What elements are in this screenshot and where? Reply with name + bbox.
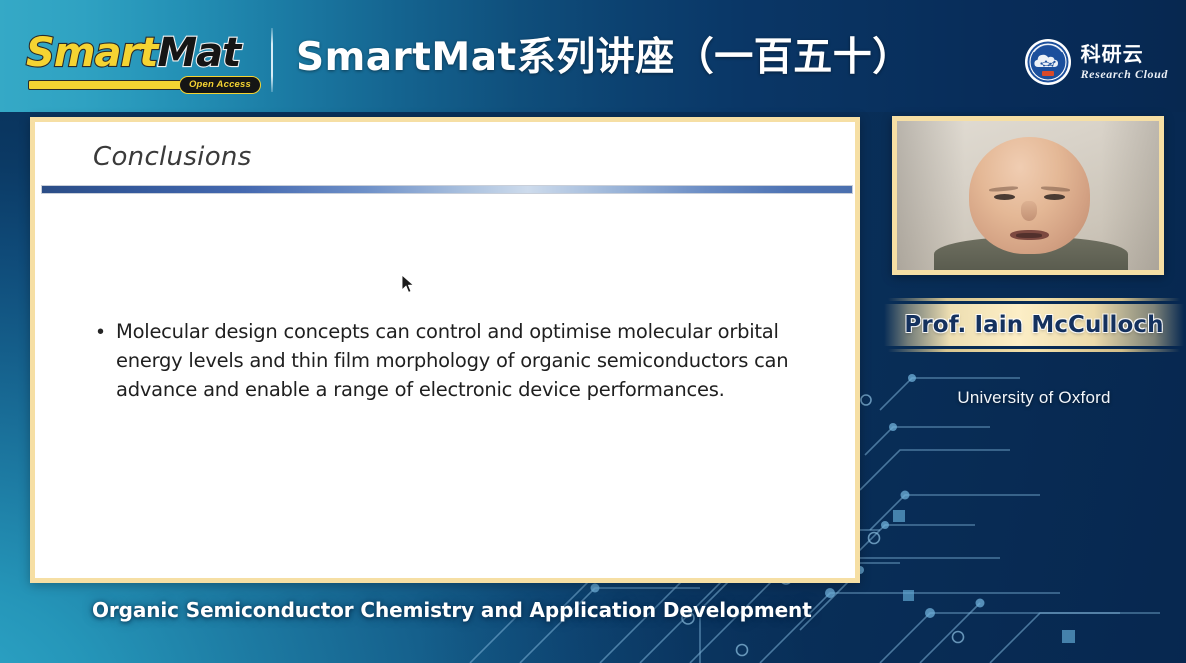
mouse-pointer-icon <box>401 274 415 294</box>
research-cloud-logo: 科研云 Research Cloud <box>1024 36 1168 88</box>
research-cloud-name-cn: 科研云 <box>1081 44 1168 64</box>
smartmat-logo-mat-text: Mat <box>157 30 240 76</box>
nameplate-rule-top <box>888 298 1180 301</box>
open-access-badge: Open Access <box>179 76 261 94</box>
page-title: SmartMat系列讲座（一百五十） <box>296 36 912 81</box>
smartmat-logo-wordmark: SmartMat <box>26 33 240 73</box>
speaker-nose <box>1021 201 1037 220</box>
slide-title: Conclusions <box>93 142 252 172</box>
speaker-eye-right <box>1044 194 1065 200</box>
speaker-mouth-inner <box>1016 233 1042 238</box>
lecture-topic-title: Organic Semiconductor Chemistry and Appl… <box>92 598 812 622</box>
header-divider <box>271 28 273 92</box>
presentation-stage: SmartMat Open Access SmartMat系列讲座（一百五十） <box>0 0 1186 663</box>
slide-title-rule <box>41 185 853 194</box>
bullet-text: Molecular design concepts can control an… <box>116 317 815 404</box>
research-cloud-emblem-icon <box>1024 38 1072 86</box>
slide-frame: Conclusions • Molecular design concepts … <box>30 117 860 583</box>
speaker-name: Prof. Iain McCulloch <box>884 304 1184 346</box>
bullet-marker: • <box>97 317 104 404</box>
smartmat-logo: SmartMat Open Access <box>24 33 259 95</box>
speaker-nameplate: Prof. Iain McCulloch <box>884 296 1184 354</box>
smartmat-logo-smart-text: Smart <box>26 30 157 76</box>
header-bar: SmartMat Open Access SmartMat系列讲座（一百五十） <box>0 0 1186 112</box>
speaker-affiliation: University of Oxford <box>884 388 1184 408</box>
nameplate-rule-bottom <box>888 349 1180 352</box>
research-cloud-name-en: Research Cloud <box>1081 68 1168 80</box>
speaker-eye-left <box>994 194 1015 200</box>
speaker-video-feed[interactable] <box>897 121 1159 270</box>
research-cloud-logo-text: 科研云 Research Cloud <box>1081 44 1168 80</box>
list-item: • Molecular design concepts can control … <box>97 317 815 404</box>
slide-page: Conclusions • Molecular design concepts … <box>35 122 855 578</box>
slide-body: • Molecular design concepts can control … <box>97 317 815 404</box>
speaker-video-frame[interactable] <box>892 116 1164 275</box>
